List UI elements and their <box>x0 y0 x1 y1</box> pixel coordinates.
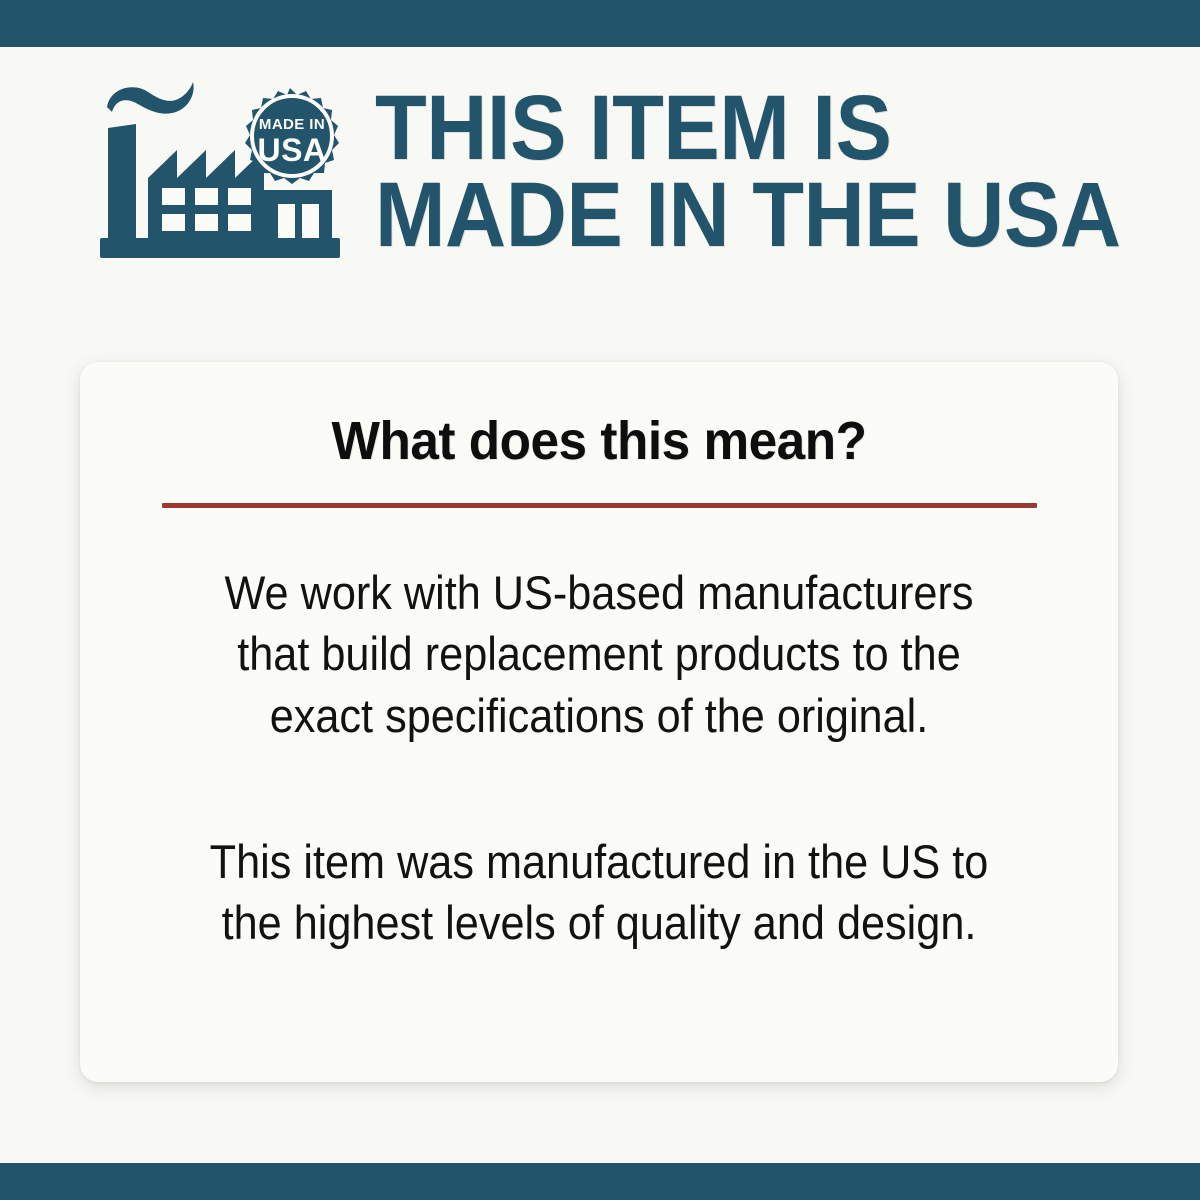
page-root: MADE IN USA THIS ITEM IS MADE IN THE USA… <box>0 0 1200 1200</box>
title-line-2: MADE IN THE USA <box>375 172 1120 259</box>
svg-text:USA: USA <box>257 132 326 168</box>
card-paragraph-2: This item was manufactured in the US to … <box>194 831 1004 953</box>
card-paragraph-1: We work with US-based manufacturers that… <box>194 562 1004 745</box>
page-title: THIS ITEM IS MADE IN THE USA <box>375 85 1185 260</box>
divider-rule <box>162 503 1037 508</box>
title-line-1: THIS ITEM IS <box>375 85 1120 172</box>
bottom-accent-bar <box>0 1163 1200 1200</box>
svg-text:MADE IN: MADE IN <box>259 116 325 133</box>
card-heading: What does this mean? <box>140 412 1058 471</box>
info-card: What does this mean? We work with US-bas… <box>80 362 1118 1082</box>
header: MADE IN USA THIS ITEM IS MADE IN THE USA <box>0 47 1200 297</box>
factory-icon: MADE IN USA <box>100 80 345 270</box>
top-accent-bar <box>0 0 1200 47</box>
